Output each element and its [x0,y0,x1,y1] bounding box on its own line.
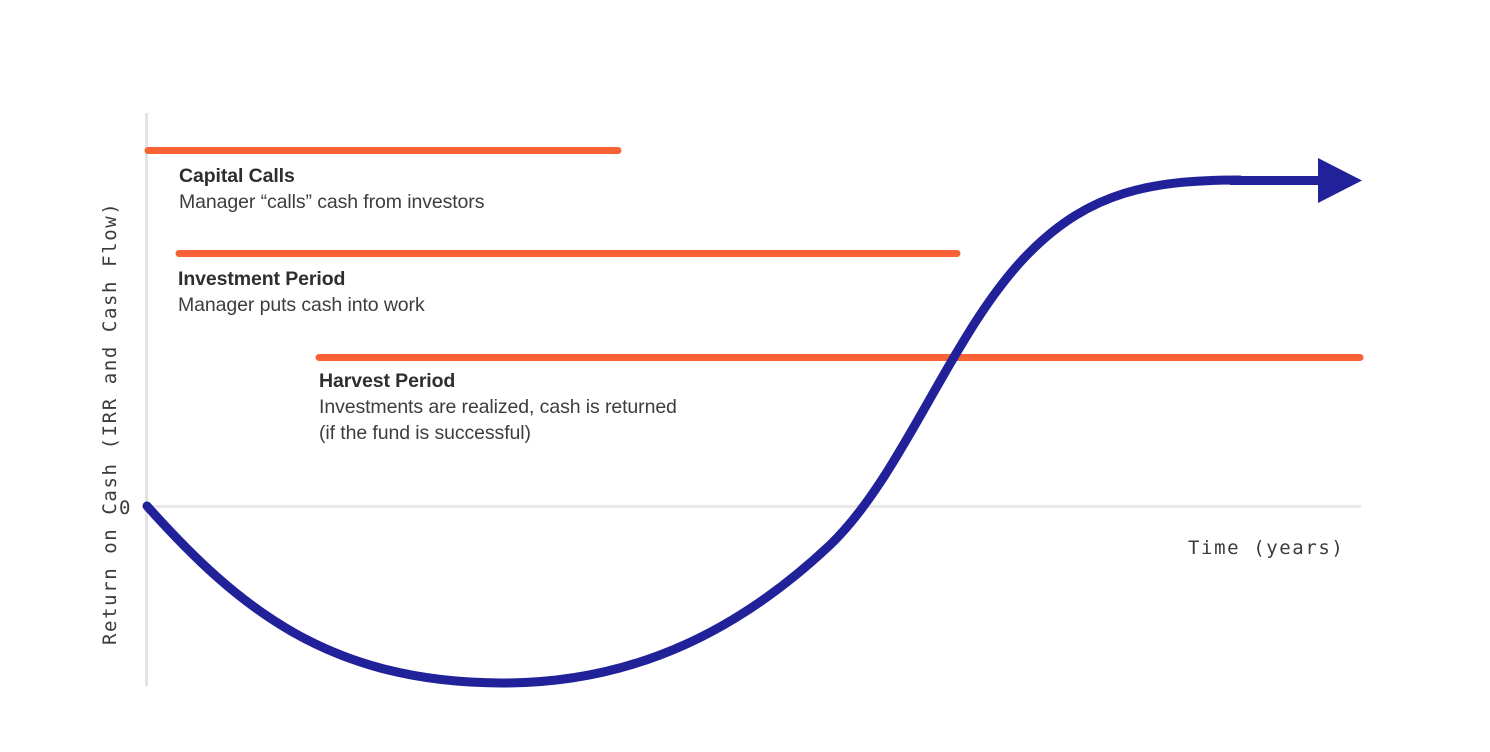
annotation-capital-calls: Capital Calls Manager “calls” cash from … [179,163,484,215]
annotation-investment-period-title: Investment Period [178,266,425,292]
annotation-capital-calls-title: Capital Calls [179,163,484,189]
annotation-harvest-period-title: Harvest Period [319,368,677,394]
annotation-investment-period: Investment Period Manager puts cash into… [178,266,425,318]
chart-svg [0,0,1490,752]
annotation-investment-period-line-1: Manager puts cash into work [178,292,425,318]
jcurve-chart-canvas: Time (years) Return on Cash (IRR and Cas… [0,0,1490,752]
jcurve-arrowhead [1230,158,1362,203]
annotation-harvest-period: Harvest Period Investments are realized,… [319,368,677,446]
y-axis-zero-tick-label: 0 [119,497,130,519]
annotation-capital-calls-line-1: Manager “calls” cash from investors [179,189,484,215]
y-axis-title: Return on Cash (IRR and Cash Flow) [99,202,121,645]
annotation-harvest-period-line-1: Investments are realized, cash is return… [319,394,677,420]
x-axis-title: Time (years) [1188,537,1344,559]
annotation-harvest-period-line-2: (if the fund is successful) [319,420,677,446]
